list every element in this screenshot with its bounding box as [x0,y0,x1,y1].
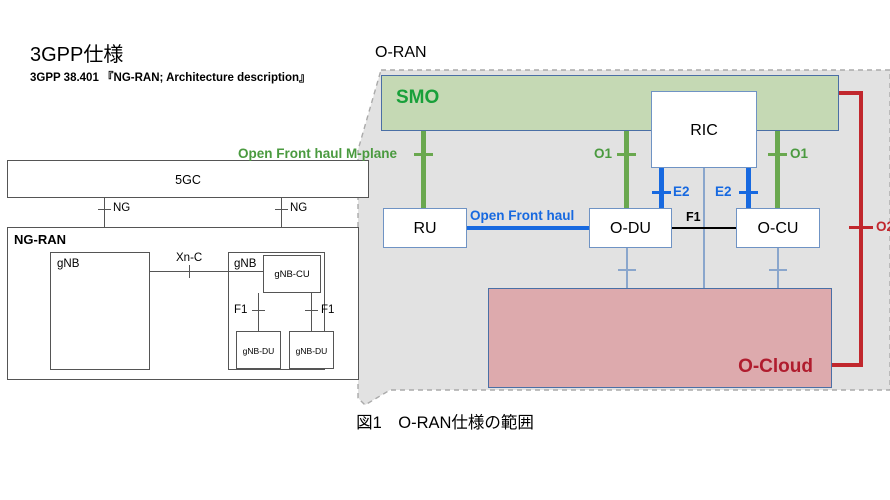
box-ru-label: RU [384,220,466,238]
ng-label-left: NG [113,203,130,215]
box-ric-label: RIC [652,122,756,140]
box-gnb-right-label: gNB [234,258,256,270]
open-front-haul-mplane-link [421,131,426,210]
o2-link-bottom [832,363,863,367]
box-gnb-du-1: gNB-DU [236,331,281,369]
box-ru: RU [383,208,467,248]
box-gnb-left: gNB [50,252,150,370]
o1-label-left: O1 [594,147,612,161]
f1-link-left [258,293,259,331]
e2-link-left [659,168,664,210]
o1-tick-left [617,153,636,156]
o1-link-left [624,131,629,210]
subtitle-3gpp-spec: 3GPP 38.401 『NG-RAN; Architecture descri… [30,73,311,85]
box-o-cloud-label: O-Cloud [738,356,813,378]
diagram-canvas: 3GPP仕様 3GPP 38.401 『NG-RAN; Architecture… [0,0,890,500]
page-title-3gpp: 3GPP仕様 [30,45,123,65]
box-5gc-label: 5GC [8,173,368,187]
box-o-cloud: O-Cloud [488,288,832,388]
box-o-du-label: O-DU [590,220,671,238]
open-front-haul-link [466,226,590,230]
f1-tick-right [305,310,318,311]
f1-link-right [311,293,312,331]
ng-tick-left [98,209,111,210]
box-ric: RIC [651,91,757,168]
ng-tick-right [275,209,288,210]
f1-label-right: F1 [321,305,334,317]
box-o-cu-label: O-CU [737,220,819,238]
open-front-haul-label: Open Front haul [470,209,574,223]
xn-c-tick [189,265,190,278]
open-front-haul-mplane-label: Open Front haul M-plane [238,147,397,161]
box-gnb-left-label: gNB [57,258,79,270]
e2-label-left: E2 [673,185,690,199]
box-smo [381,75,839,131]
ng-label-right: NG [290,203,307,215]
e2-tick-right [739,191,758,194]
odu-to-ocloud-tick [618,269,636,271]
xn-c-link [150,271,264,272]
box-o-cu: O-CU [736,208,820,248]
box-5gc: 5GC [7,160,369,198]
f1-label-oran: F1 [686,211,701,224]
open-front-haul-mplane-tick [414,153,433,156]
box-gnb-cu: gNB-CU [263,255,321,293]
box-ng-ran-label: NG-RAN [14,233,66,246]
box-gnb-du-2: gNB-DU [289,331,334,369]
box-gnb-cu-label: gNB-CU [264,269,320,280]
o1-link-right [775,131,780,210]
f1-tick-left [252,310,265,311]
box-gnb-du-2-label: gNB-DU [290,346,333,356]
ocu-to-ocloud-tick [769,269,787,271]
o1-tick-right [768,153,787,156]
box-smo-label: SMO [396,88,439,107]
o2-tick [849,226,873,229]
f1-link-oran [671,227,737,229]
o2-link-vertical [859,91,863,367]
box-o-du: O-DU [589,208,672,248]
e2-tick-left [652,191,671,194]
figure-caption: 図1 O-RAN仕様の範囲 [0,415,890,432]
o2-label: O2 [876,220,890,234]
e2-label-right: E2 [715,185,732,199]
f1-label-left: F1 [234,305,247,317]
page-title-oran: O-RAN [375,45,427,61]
o1-label-right: O1 [790,147,808,161]
xn-c-label: Xn-C [176,253,202,265]
box-gnb-du-1-label: gNB-DU [237,346,280,356]
e2-link-right [746,168,751,210]
